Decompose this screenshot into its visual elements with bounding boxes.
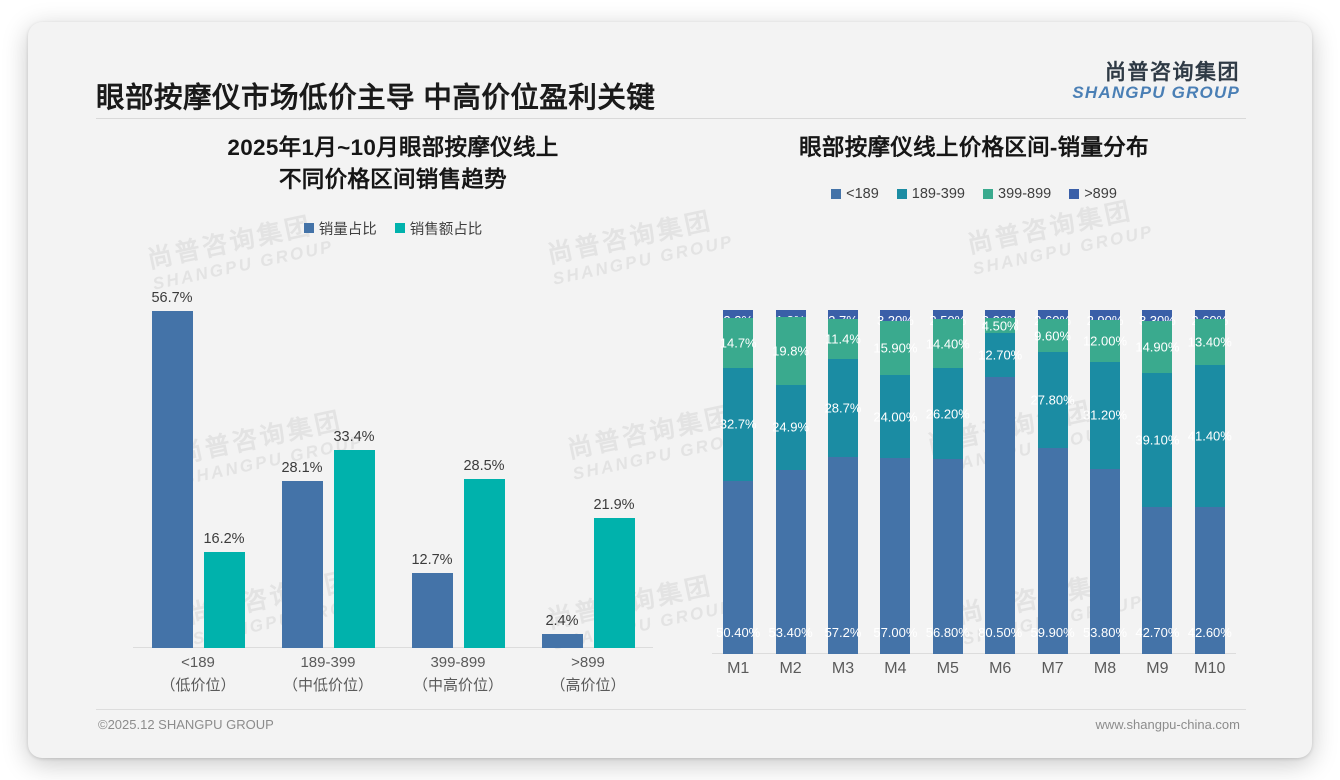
stack-segment[interactable]: 24.00% bbox=[880, 375, 910, 458]
bar-value-label: 2.4% bbox=[545, 613, 578, 629]
stack-segment[interactable]: 41.40% bbox=[1195, 365, 1225, 507]
x-tick-label: M3 bbox=[817, 660, 869, 678]
chart-panel-stacked: 眼部按摩仪线上价格区间-销量分布 <189189-399399-899>899 … bbox=[700, 132, 1248, 692]
legend-item-189-399[interactable]: 189-399 bbox=[897, 186, 965, 202]
stack-segment[interactable]: 56.80% bbox=[933, 459, 963, 654]
chart-panel-grouped: 2025年1月~10月眼部按摩仪线上 不同价格区间销售趋势 销量占比 销售额占比… bbox=[98, 132, 688, 692]
legend-swatch-icon bbox=[304, 223, 314, 233]
legend-label: >899 bbox=[1084, 186, 1117, 202]
stack-segment[interactable]: 12.00% bbox=[1090, 320, 1120, 361]
legend-item-189[interactable]: <189 bbox=[831, 186, 879, 202]
stack-segment-label: 9.60% bbox=[1034, 328, 1071, 343]
bar-column[interactable]: 28.5% bbox=[464, 479, 505, 648]
legend-item-399-899[interactable]: 399-899 bbox=[983, 186, 1051, 202]
stacked-bar-column[interactable]: 3.30%14.90%39.10%42.70% bbox=[1142, 272, 1172, 654]
stack-segment-label: 14.40% bbox=[926, 336, 970, 351]
bar-column[interactable]: 28.1% bbox=[282, 481, 323, 648]
stack-segment[interactable]: 2.2% bbox=[723, 310, 753, 318]
x-tick-label: M1 bbox=[712, 660, 764, 678]
legend-label: 销量占比 bbox=[319, 218, 377, 239]
stack-segment[interactable]: 39.10% bbox=[1142, 373, 1172, 508]
bar-rect[interactable] bbox=[594, 518, 635, 648]
bar-column[interactable]: 33.4% bbox=[334, 450, 375, 648]
stack-segment-label: 39.10% bbox=[1135, 432, 1179, 447]
brand-logo-cn: 尚普咨询集团 bbox=[1072, 62, 1240, 84]
stack-segment-label: 42.60% bbox=[1188, 625, 1232, 640]
stack-segment[interactable]: 14.40% bbox=[933, 319, 963, 369]
stacked-bar-column[interactable]: 2.50%14.40%26.20%56.80% bbox=[933, 272, 963, 654]
chart-title-line2: 不同价格区间销售趋势 bbox=[98, 164, 688, 196]
stack-segment[interactable]: 28.7% bbox=[828, 359, 858, 458]
bar-group: 12.7%28.5% bbox=[393, 280, 523, 648]
stack-segment-label: 80.50% bbox=[978, 625, 1022, 640]
bar-rect[interactable] bbox=[282, 481, 323, 648]
stack-segment-label: 26.20% bbox=[926, 406, 970, 421]
stacked-bar-column[interactable]: 2.90%12.00%31.20%53.80% bbox=[1090, 272, 1120, 654]
stack-segment[interactable]: 2.50% bbox=[933, 310, 963, 319]
stack-segment[interactable]: 13.40% bbox=[1195, 319, 1225, 365]
bar-rect[interactable] bbox=[412, 573, 453, 648]
footer-copyright: ©2025.12 SHANGPU GROUP bbox=[98, 717, 274, 732]
stack-segment[interactable]: 59.90% bbox=[1038, 448, 1068, 654]
stack-segment-label: 12.00% bbox=[1083, 333, 1127, 348]
brand-logo-en: SHANGPU GROUP bbox=[1072, 84, 1240, 102]
x-tick-secondary: （低价位） bbox=[133, 675, 263, 698]
bar-rect[interactable] bbox=[542, 634, 583, 648]
bar-column[interactable]: 12.7% bbox=[412, 573, 453, 648]
bar-column[interactable]: 56.7% bbox=[152, 311, 193, 648]
plot-area-stacked: 2.2%14.7%32.7%50.40%1.8%19.8%24.9%53.40%… bbox=[712, 272, 1236, 654]
chart-title-line1: 眼部按摩仪线上价格区间-销量分布 bbox=[700, 132, 1248, 164]
x-tick-secondary: （中低价位） bbox=[263, 675, 393, 698]
x-tick-label: 399-899（中高价位） bbox=[393, 652, 523, 697]
stacked-bar-column[interactable]: 2.60%13.40%41.40%42.60% bbox=[1195, 272, 1225, 654]
x-tick-secondary: （高价位） bbox=[523, 675, 653, 698]
bar-value-label: 28.1% bbox=[281, 460, 322, 476]
bar-group: 2.4%21.9% bbox=[523, 280, 653, 648]
footer-website[interactable]: www.shangpu-china.com bbox=[1095, 717, 1240, 732]
stack-segment-label: 53.80% bbox=[1083, 625, 1127, 640]
legend-label: 399-899 bbox=[998, 186, 1051, 202]
x-tick-label: M10 bbox=[1184, 660, 1236, 678]
bar-group: 28.1%33.4% bbox=[263, 280, 393, 648]
stack-segment-label: 50.40% bbox=[716, 625, 760, 640]
chart-title-line1: 2025年1月~10月眼部按摩仪线上 bbox=[98, 132, 688, 164]
stack-segment[interactable]: 24.9% bbox=[776, 385, 806, 471]
stack-segment[interactable]: 14.90% bbox=[1142, 321, 1172, 372]
stack-segment-label: 4.50% bbox=[982, 318, 1019, 333]
legend-stacked: <189189-399399-899>899 bbox=[700, 186, 1248, 202]
stack-segment[interactable]: 2.20% bbox=[985, 310, 1015, 318]
stack-segment[interactable]: 32.7% bbox=[723, 368, 753, 480]
stack-segment[interactable]: 57.2% bbox=[828, 457, 858, 654]
x-tick-label: M8 bbox=[1079, 660, 1131, 678]
stack-segment-label: 14.90% bbox=[1135, 340, 1179, 355]
stack-segment[interactable]: 31.20% bbox=[1090, 362, 1120, 469]
stack-segment[interactable]: 53.40% bbox=[776, 470, 806, 654]
x-tick-label: M6 bbox=[974, 660, 1026, 678]
stack-segment-label: 57.00% bbox=[873, 625, 917, 640]
legend-swatch-icon bbox=[897, 189, 907, 199]
stack-segment[interactable]: 42.70% bbox=[1142, 507, 1172, 654]
slide-canvas: 尚普咨询集团 SHANGPU GROUP 尚普咨询集团 SHANGPU GROU… bbox=[28, 22, 1312, 758]
bar-group: 56.7%16.2% bbox=[133, 280, 263, 648]
x-tick-label: M7 bbox=[1027, 660, 1079, 678]
page-title: 眼部按摩仪市场低价主导 中高价位盈利关键 bbox=[96, 75, 655, 116]
bar-rect[interactable] bbox=[204, 552, 245, 648]
x-tick-label: M4 bbox=[869, 660, 921, 678]
bar-column[interactable]: 16.2% bbox=[204, 552, 245, 648]
bar-column[interactable]: 21.9% bbox=[594, 518, 635, 648]
legend-grouped: 销量占比 销售额占比 bbox=[98, 218, 688, 239]
bar-column[interactable]: 2.4% bbox=[542, 634, 583, 648]
stack-segment[interactable]: 15.90% bbox=[880, 321, 910, 376]
stack-segment-label: 11.4% bbox=[825, 331, 861, 346]
stacked-bar-column[interactable]: 2.20%4.50%12.70%80.50% bbox=[985, 272, 1015, 654]
stack-segment[interactable]: 2.60% bbox=[1195, 310, 1225, 319]
stack-segment-label: 53.40% bbox=[769, 625, 813, 640]
bar-value-label: 16.2% bbox=[203, 531, 244, 547]
stack-segment-label: 24.00% bbox=[873, 409, 917, 424]
stack-segment[interactable]: 4.50% bbox=[985, 318, 1015, 333]
legend-item-sales-volume[interactable]: 销量占比 bbox=[304, 218, 377, 239]
bar-value-label: 56.7% bbox=[151, 290, 192, 306]
legend-label: 销售额占比 bbox=[410, 218, 483, 239]
footer-divider bbox=[96, 709, 1246, 710]
stack-segment-label: 12.70% bbox=[978, 348, 1022, 363]
x-tick-secondary: （中高价位） bbox=[393, 675, 523, 698]
chart-title-stacked: 眼部按摩仪线上价格区间-销量分布 bbox=[700, 132, 1248, 164]
stack-segment-label: 32.7% bbox=[720, 417, 757, 432]
bar-rect[interactable] bbox=[152, 311, 193, 648]
bar-value-label: 12.7% bbox=[411, 552, 452, 568]
stack-segment[interactable]: 50.40% bbox=[723, 481, 753, 654]
stack-segment[interactable]: 11.4% bbox=[828, 319, 858, 358]
stack-segment[interactable]: 80.50% bbox=[985, 377, 1015, 654]
stack-segment-label: 42.70% bbox=[1135, 625, 1179, 640]
stack-segment-label: 24.9% bbox=[772, 420, 809, 435]
stack-segment-label: 27.80% bbox=[1031, 393, 1075, 408]
stack-segment[interactable]: 27.80% bbox=[1038, 352, 1068, 448]
legend-item-sales-value[interactable]: 销售额占比 bbox=[395, 218, 483, 239]
stacked-bar-column[interactable]: 2.60%9.60%27.80%59.90% bbox=[1038, 272, 1068, 654]
x-tick-label: M5 bbox=[922, 660, 974, 678]
stack-segment-label: 56.80% bbox=[926, 625, 970, 640]
stack-segment-label: 28.7% bbox=[825, 400, 862, 415]
stack-segment[interactable]: 3.30% bbox=[1142, 310, 1172, 321]
x-tick-label: >899（高价位） bbox=[523, 652, 653, 697]
x-tick-label: 189-399（中低价位） bbox=[263, 652, 393, 697]
x-tick-primary: 189-399 bbox=[263, 652, 393, 675]
stack-segment[interactable]: 2.7% bbox=[828, 310, 858, 319]
x-tick-label: M2 bbox=[765, 660, 817, 678]
x-tick-label: <189（低价位） bbox=[133, 652, 263, 697]
legend-item-899[interactable]: >899 bbox=[1069, 186, 1117, 202]
legend-label: <189 bbox=[846, 186, 879, 202]
stack-segment-label: 13.40% bbox=[1188, 335, 1232, 350]
bar-value-label: 28.5% bbox=[463, 458, 504, 474]
stack-segment[interactable]: 53.80% bbox=[1090, 469, 1120, 654]
stack-segment[interactable]: 26.20% bbox=[933, 368, 963, 458]
stack-segment[interactable]: 12.70% bbox=[985, 333, 1015, 377]
stack-segment-label: 14.7% bbox=[720, 335, 757, 350]
legend-label: 189-399 bbox=[912, 186, 965, 202]
stack-segment[interactable]: 57.00% bbox=[880, 458, 910, 654]
stack-segment-label: 31.20% bbox=[1083, 408, 1127, 423]
bar-rect[interactable] bbox=[464, 479, 505, 648]
stack-segment[interactable]: 42.60% bbox=[1195, 507, 1225, 654]
stack-segment[interactable]: 9.60% bbox=[1038, 319, 1068, 352]
x-axis-labels-grouped: <189（低价位）189-399（中低价位）399-899（中高价位）>899（… bbox=[133, 652, 653, 706]
stacked-bar-column[interactable]: 2.7%11.4%28.7%57.2% bbox=[828, 272, 858, 654]
bar-rect[interactable] bbox=[334, 450, 375, 648]
stack-segment-label: 57.2% bbox=[825, 625, 862, 640]
stack-segment[interactable]: 19.8% bbox=[776, 317, 806, 385]
stack-segment[interactable]: 14.7% bbox=[723, 318, 753, 369]
bar-value-label: 33.4% bbox=[333, 429, 374, 445]
x-tick-primary: 399-899 bbox=[393, 652, 523, 675]
stack-segment-label: 19.8% bbox=[772, 343, 809, 358]
stack-segment-label: 15.90% bbox=[873, 341, 917, 356]
stack-segment-label: 41.40% bbox=[1188, 429, 1232, 444]
chart-title-grouped: 2025年1月~10月眼部按摩仪线上 不同价格区间销售趋势 bbox=[98, 132, 688, 196]
stacked-bar-column[interactable]: 1.8%19.8%24.9%53.40% bbox=[776, 272, 806, 654]
stack-segment[interactable]: 2.90% bbox=[1090, 310, 1120, 320]
brand-logo: 尚普咨询集团 SHANGPU GROUP bbox=[1072, 62, 1240, 102]
x-tick-primary: >899 bbox=[523, 652, 653, 675]
x-tick-primary: <189 bbox=[133, 652, 263, 675]
x-tick-label: M9 bbox=[1131, 660, 1183, 678]
slide-header: 眼部按摩仪市场低价主导 中高价位盈利关键 尚普咨询集团 SHANGPU GROU… bbox=[28, 22, 1312, 118]
legend-swatch-icon bbox=[1069, 189, 1079, 199]
stacked-bar-column[interactable]: 3.20%15.90%24.00%57.00% bbox=[880, 272, 910, 654]
x-axis-labels-stacked: M1M2M3M4M5M6M7M8M9M10 bbox=[712, 660, 1236, 690]
legend-swatch-icon bbox=[395, 223, 405, 233]
stacked-bar-column[interactable]: 2.2%14.7%32.7%50.40% bbox=[723, 272, 753, 654]
legend-swatch-icon bbox=[831, 189, 841, 199]
stack-segment[interactable]: 2.60% bbox=[1038, 310, 1068, 319]
stack-segment-label: 59.90% bbox=[1031, 625, 1075, 640]
stack-segment[interactable]: 3.20% bbox=[880, 310, 910, 321]
legend-swatch-icon bbox=[983, 189, 993, 199]
plot-area-grouped: 56.7%16.2%28.1%33.4%12.7%28.5%2.4%21.9% bbox=[133, 280, 653, 648]
header-divider bbox=[96, 118, 1246, 119]
bar-value-label: 21.9% bbox=[593, 497, 634, 513]
